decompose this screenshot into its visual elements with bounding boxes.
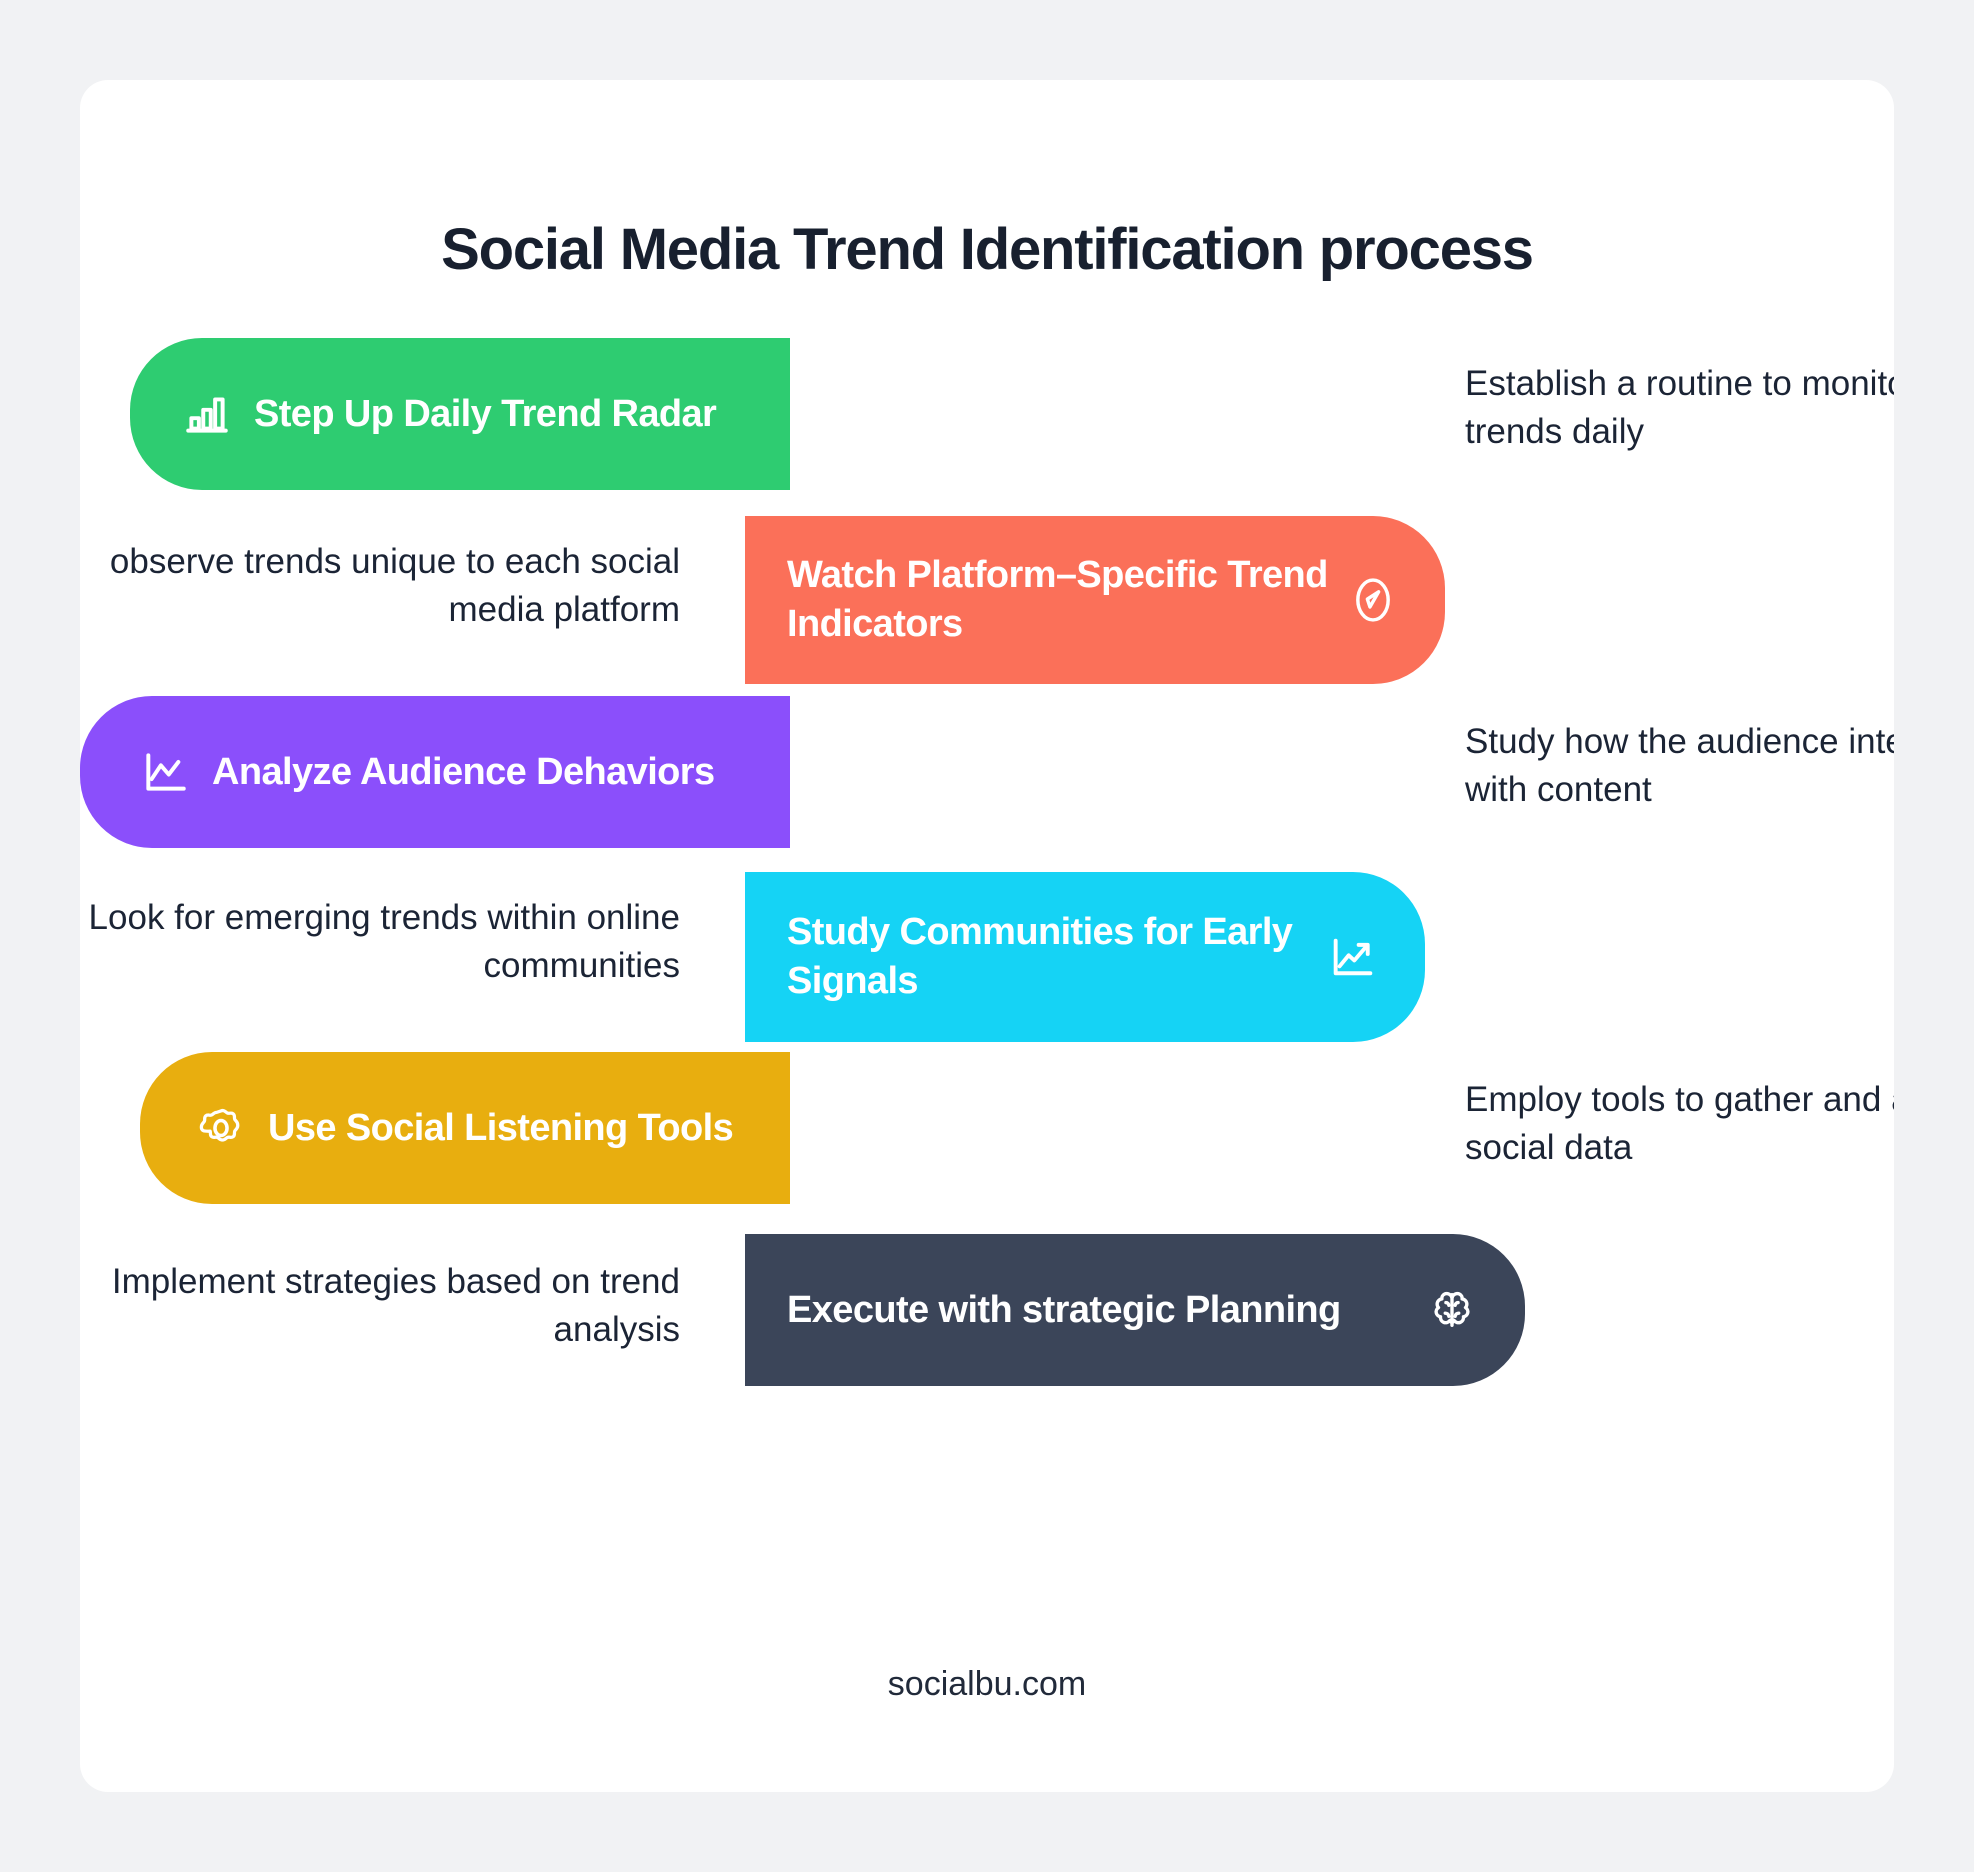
step-label-5: Use Social Listening Tools (268, 1104, 733, 1153)
gear-icon (196, 1103, 246, 1153)
page-title: Social Media Trend Identification proces… (80, 216, 1894, 283)
step-description-5: Employ tools to gather and analyze socia… (1465, 1076, 1894, 1173)
step-label-1: Step Up Daily Trend Radar (254, 390, 716, 439)
step-description-1: Establish a routine to monitor trends da… (1465, 360, 1894, 457)
step-description-2: observe trends unique to each social med… (80, 538, 680, 635)
step-label-3: Analyze Audience Dehaviors (212, 748, 715, 797)
step-label-4: Study Communities for Early Signals (787, 908, 1327, 1005)
bar-chart-icon (182, 389, 232, 439)
step-pill-1[interactable]: Step Up Daily Trend Radar (130, 338, 790, 490)
compass-icon (1347, 574, 1399, 626)
infographic-card: Social Media Trend Identification proces… (80, 80, 1894, 1792)
brain-icon (1425, 1283, 1479, 1337)
step-pill-5[interactable]: Use Social Listening Tools (140, 1052, 790, 1204)
step-label-6: Execute with strategic Planning (787, 1286, 1341, 1335)
step-pill-6[interactable]: Execute with strategic Planning (745, 1234, 1525, 1386)
footer-brand: socialbu.com (80, 1665, 1894, 1704)
step-description-6: Implement strategies based on trend anal… (80, 1258, 680, 1355)
line-chart-icon (140, 747, 190, 797)
trending-up-icon (1327, 931, 1379, 983)
step-pill-2[interactable]: Watch Platform–Specific Trend Indicators (745, 516, 1445, 684)
step-pill-4[interactable]: Study Communities for Early Signals (745, 872, 1425, 1042)
step-pill-3[interactable]: Analyze Audience Dehaviors (80, 696, 790, 848)
step-description-4: Look for emerging trends within online c… (80, 894, 680, 991)
step-description-3: Study how the audience interacts with co… (1465, 718, 1894, 815)
step-label-2: Watch Platform–Specific Trend Indicators (787, 551, 1347, 648)
